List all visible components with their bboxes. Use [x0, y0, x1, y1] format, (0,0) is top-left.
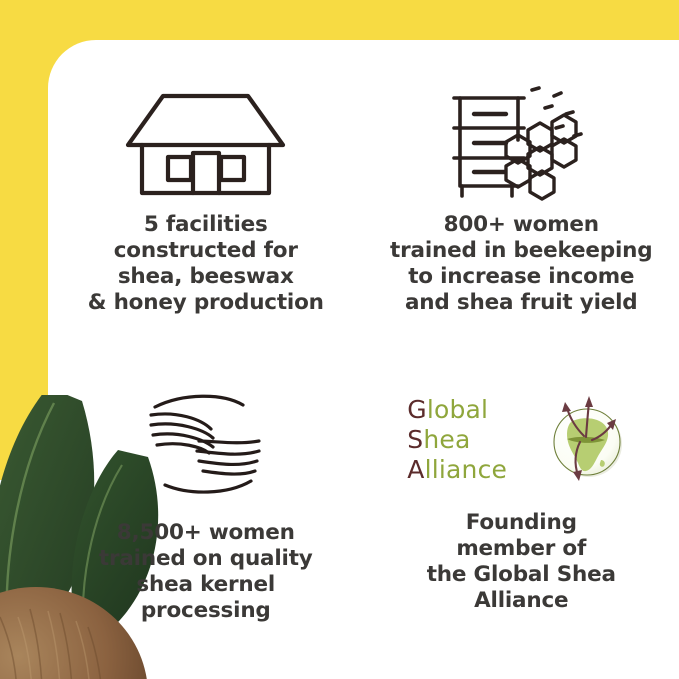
- gsa-line-global: Global: [407, 395, 507, 425]
- infographic-canvas: 5 facilities constructed for shea, beesw…: [0, 0, 679, 679]
- feature-caption: 8,500+ women trained on quality shea ker…: [99, 520, 313, 624]
- gsa-initial-s: S: [407, 425, 423, 454]
- gsa-initial-g: G: [407, 395, 427, 424]
- gsa-wordmark: Global Shea Alliance: [405, 395, 507, 485]
- global-shea-alliance-logo: Global Shea Alliance: [405, 386, 637, 494]
- feature-grid: 5 facilities constructed for shea, beesw…: [48, 40, 679, 679]
- gsa-initial-a: A: [407, 455, 424, 484]
- house-icon: [123, 84, 288, 202]
- feature-cell-gsa-membership: Global Shea Alliance: [364, 360, 679, 679]
- feature-cell-facilities: 5 facilities constructed for shea, beesw…: [48, 40, 364, 360]
- feature-caption: 5 facilities constructed for shea, beesw…: [88, 212, 324, 316]
- gsa-word-global: lobal: [427, 395, 488, 424]
- beehive-honeycomb-icon: [446, 84, 596, 202]
- africa-globe-icon: [537, 390, 637, 490]
- bees: [532, 88, 581, 136]
- feature-caption: 800+ women trained in beekeeping to incr…: [390, 212, 652, 316]
- feature-cell-beekeeping: 800+ women trained in beekeeping to incr…: [364, 40, 679, 360]
- gsa-word-shea: hea: [423, 425, 470, 454]
- gsa-line-shea: Shea: [407, 425, 507, 455]
- feature-cell-kernel-processing: 8,500+ women trained on quality shea ker…: [48, 360, 364, 679]
- feature-caption: Founding member of the Global Shea Allia…: [427, 510, 616, 614]
- gsa-word-alliance: lliance: [425, 455, 508, 484]
- gsa-line-alliance: Alliance: [407, 455, 507, 485]
- two-hands-icon: [141, 386, 271, 504]
